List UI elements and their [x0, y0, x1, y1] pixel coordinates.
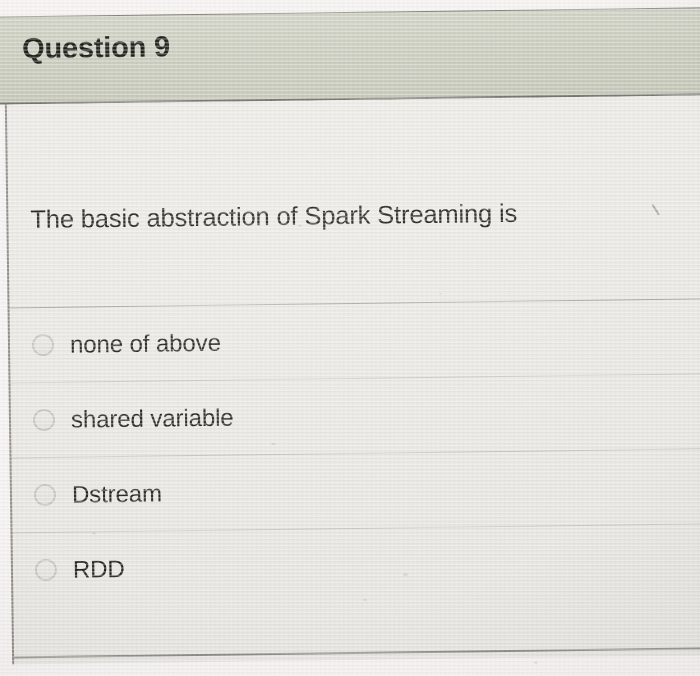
- answer-option-row[interactable]: none of above: [10, 298, 700, 382]
- answer-option-label: RDD: [73, 556, 125, 585]
- answer-option-label: Dstream: [72, 480, 162, 509]
- answer-option-label: none of above: [70, 330, 221, 360]
- answer-option-row[interactable]: shared variable: [11, 373, 700, 457]
- answer-option-label: shared variable: [71, 405, 234, 435]
- radio-button-unchecked-icon[interactable]: [32, 334, 54, 356]
- answer-option-row[interactable]: Dstream: [11, 448, 700, 532]
- photographed-screen: Question 9 The basic abstraction of Spar…: [0, 0, 700, 676]
- radio-button-unchecked-icon[interactable]: [34, 484, 56, 506]
- screen-content: Question 9 The basic abstraction of Spar…: [0, 0, 700, 676]
- question-header-band: Question 9: [0, 7, 700, 105]
- page-title: Question 9: [22, 31, 170, 66]
- question-prompt: The basic abstraction of Spark Streaming…: [30, 200, 517, 235]
- cursor-artifact: [653, 204, 664, 215]
- answer-options-list: none of above shared variable Dstream RD…: [10, 298, 700, 607]
- answer-option-row[interactable]: RDD: [12, 523, 700, 607]
- radio-button-unchecked-icon[interactable]: [33, 409, 55, 431]
- question-panel: The basic abstraction of Spark Streaming…: [5, 95, 700, 664]
- radio-button-unchecked-icon[interactable]: [35, 559, 57, 581]
